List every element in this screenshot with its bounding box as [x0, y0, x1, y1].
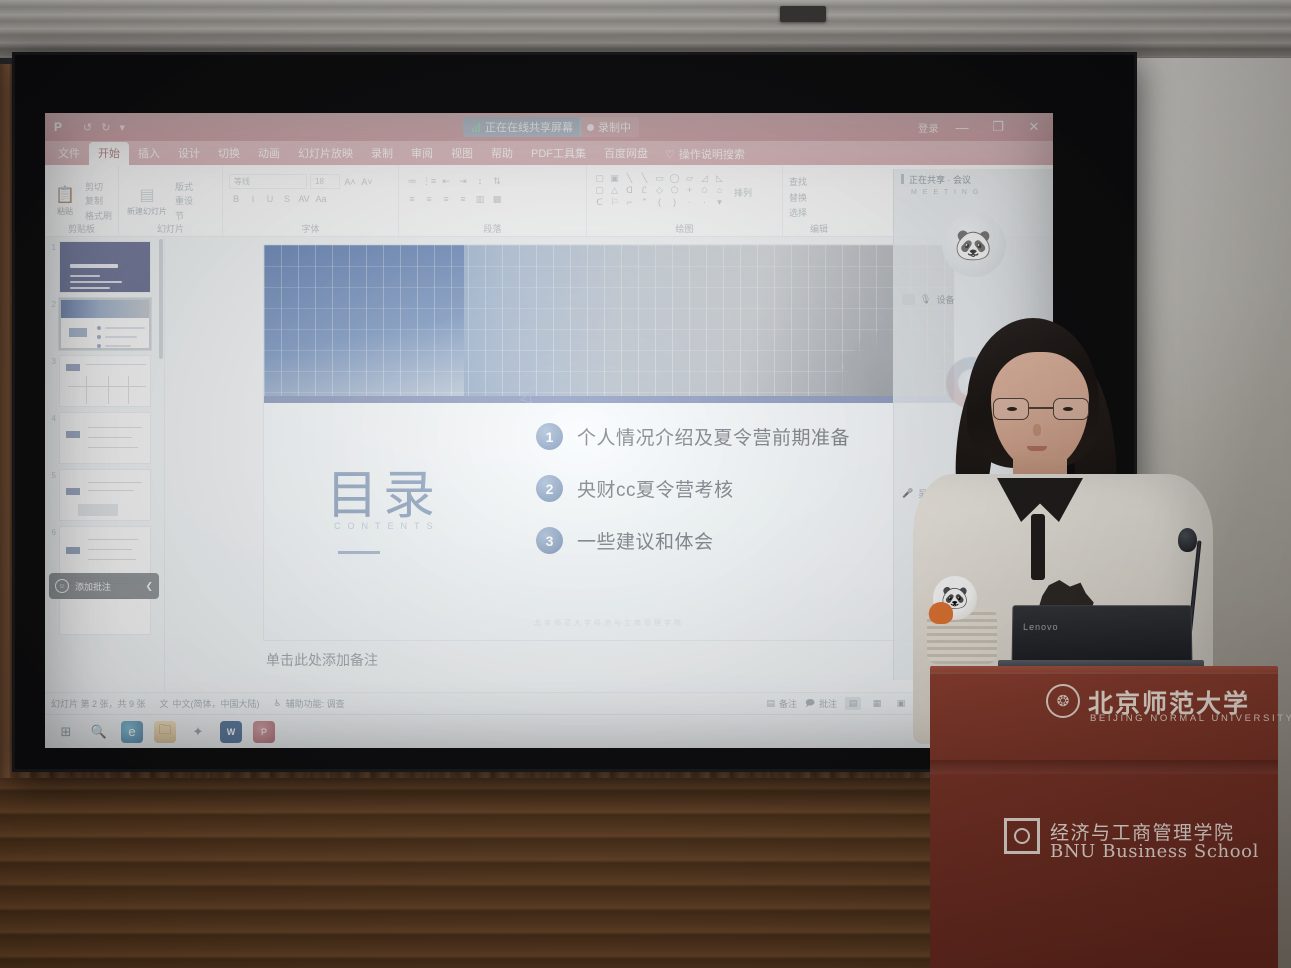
thumbnail-row-4[interactable]: 4: [45, 412, 162, 464]
ribbon-group-slides: ▤ 新建幻灯片 版式 重设 节 幻灯片: [119, 165, 223, 236]
ribbon-group-font: 等线 18 A˄ A˅ B I U S AV: [223, 165, 399, 236]
shape-banner-icon[interactable]: ⌂: [713, 185, 726, 196]
shape-square-icon[interactable]: ▭: [653, 173, 666, 184]
layout-button[interactable]: 版式: [175, 181, 193, 195]
thumbnail-number: 3: [47, 355, 56, 407]
group-label-font: 字体: [223, 222, 398, 235]
thumb-1-sub: [70, 275, 100, 277]
panda-patch-icon: 🐼: [933, 576, 977, 620]
bold-button[interactable]: B: [229, 192, 243, 206]
font-size-box[interactable]: 18: [310, 174, 340, 189]
select-button[interactable]: 选择: [789, 207, 807, 221]
new-slide-icon: ▤: [139, 188, 154, 204]
shape-chevron-icon[interactable]: ⌃: [638, 197, 651, 208]
panel-accent-bar: [901, 174, 904, 184]
font-style-row: B I U S AV Aa: [229, 192, 328, 206]
notes-placeholder[interactable]: 单击此处添加备注: [264, 650, 954, 670]
participant-avatar-tile[interactable]: 🐼: [904, 202, 1043, 288]
status-bar: 幻灯片 第 2 张，共 9 张 文 中文(简体，中国大陆) ♿ 辅助功能: 调查…: [45, 692, 1053, 714]
shape-flow-icon[interactable]: ⚐: [608, 197, 621, 208]
photo-bottom-bar: [264, 396, 954, 403]
thumb-4-line-2: [88, 437, 132, 438]
toc-text-2: 央财cc夏令营考核: [577, 475, 734, 502]
slide-thumbnail-1[interactable]: [59, 241, 151, 293]
group-label-slides: 幻灯片: [119, 222, 222, 235]
group-label-paragraph: 段落: [399, 222, 586, 235]
tab-pdf-tools[interactable]: PDF工具集: [522, 142, 595, 165]
thumb-5-image: [78, 504, 118, 516]
paragraph-row-2: ≡ ≡ ≡ ≡ ▥ ▩: [405, 192, 504, 206]
toc-number-2: 2: [536, 475, 563, 502]
shape-plus-icon[interactable]: +: [683, 185, 696, 196]
nose: [1033, 424, 1041, 436]
shape-more-icon[interactable]: ▾: [713, 197, 726, 208]
shape-more-2-icon[interactable]: ◿: [698, 173, 711, 184]
ribbon-group-clipboard: 📋 粘贴 剪切 复制 格式刷 剪贴板: [45, 165, 119, 236]
school-name-en: BNU Business School: [1050, 841, 1259, 862]
smartart-button[interactable]: ▩: [490, 192, 504, 206]
ceiling-sensor-box: [780, 6, 826, 22]
add-comment-chip[interactable]: ☺ 添加批注 ❮: [49, 573, 159, 599]
toc-item-2[interactable]: 2 央财cc夏令营考核: [536, 475, 936, 502]
add-comment-label: 添加批注: [75, 580, 111, 593]
group-label-editing: 编辑: [783, 222, 855, 235]
line-spacing-button[interactable]: ↕: [473, 174, 487, 188]
thumb-1-sub3: [70, 287, 110, 289]
zip-placket: [1031, 514, 1045, 580]
slide-count-label[interactable]: 幻灯片 第 2 张，共 9 张: [51, 697, 146, 710]
toc-item-3[interactable]: 3 一些建议和体会: [536, 527, 936, 554]
thumb-5-line-2: [88, 490, 134, 491]
thumbnail-number: 1: [47, 241, 56, 293]
language-icon: 文: [160, 697, 169, 710]
redo-icon[interactable]: ↻: [101, 121, 110, 134]
slide-thumbnail-2[interactable]: [59, 298, 151, 350]
toc-item-1[interactable]: 1 个人情况介绍及夏令营前期准备: [536, 423, 936, 450]
shape-brace-right-icon[interactable]: ): [668, 197, 681, 208]
increase-indent-button[interactable]: ⇥: [456, 174, 470, 188]
powerpoint-button[interactable]: P: [253, 721, 275, 743]
decrease-font-size-button[interactable]: A˅: [360, 175, 374, 189]
group-label-drawing: 绘图: [587, 222, 782, 235]
reset-button[interactable]: 重设: [175, 195, 193, 209]
tell-me-search[interactable]: ♡ 操作说明搜索: [657, 143, 753, 165]
new-slide-label: 新建幻灯片: [127, 206, 167, 217]
close-button[interactable]: ✕: [1021, 119, 1047, 135]
windows-taskbar: ⊞ 🔍 e 🗀 ✦ W P ☁ 12°C 阴 ⌃ ▣ 🕪 中: [45, 714, 1053, 748]
current-slide[interactable]: ◁° 目录 CONTENTS 1 个人情况介绍及夏令营前期准备: [264, 245, 954, 640]
laptop-brand-label: Lenovo: [1023, 622, 1059, 632]
font-name-box[interactable]: 等线: [229, 174, 307, 189]
shape-brace-left-icon[interactable]: (: [653, 197, 666, 208]
screen-share-badge[interactable]: 正在在线共享屏幕: [463, 117, 582, 137]
eye-left: [1007, 407, 1017, 411]
tell-me-label: 操作说明搜索: [679, 146, 745, 162]
glasses-bridge: [1029, 407, 1053, 409]
tab-file[interactable]: 文件: [49, 142, 89, 165]
minimize-button[interactable]: —: [949, 120, 975, 135]
slide-thumbnail-pane[interactable]: 1 2: [45, 237, 165, 692]
shape-star-icon[interactable]: ✩: [698, 185, 711, 196]
thumb-6-line-3: [88, 559, 136, 560]
shape-more-3-icon[interactable]: ◺: [713, 173, 726, 184]
shape-rounded-icon[interactable]: ▢: [593, 185, 606, 196]
thumb-2-bullet-1: [97, 326, 101, 330]
account-label[interactable]: 登录: [918, 120, 939, 135]
tab-view[interactable]: 视图: [442, 142, 482, 165]
thumbnail-number: 2: [47, 298, 56, 350]
lightbulb-icon: ♡: [665, 148, 675, 161]
tab-transitions[interactable]: 切换: [209, 142, 249, 165]
toc-text-1: 个人情况介绍及夏令营前期准备: [577, 423, 850, 450]
powerpoint-logo-icon: P: [45, 113, 71, 141]
slide-thumbnail-3[interactable]: [59, 355, 151, 407]
undo-icon[interactable]: ↺: [83, 121, 92, 134]
thumb-2-text-3: [105, 345, 131, 347]
paragraph-row-1: ≔ ⋮≡ ⇤ ⇥ ↕ ⇅: [405, 174, 504, 188]
tab-design[interactable]: 设计: [169, 142, 209, 165]
comments-label: 批注: [819, 697, 837, 710]
cut-button[interactable]: 剪切: [85, 181, 112, 195]
numbering-button[interactable]: ⋮≡: [422, 174, 436, 188]
slide-toc-list: 1 个人情况介绍及夏令营前期准备 2 央财cc夏令营考核 3: [536, 423, 936, 579]
thumb-3-col-1: [86, 376, 87, 404]
thumb-1-sub2: [70, 281, 122, 283]
thumb-2-text-2: [105, 336, 137, 338]
bnu-business-school-icon: [1004, 818, 1040, 854]
mouth: [1027, 446, 1047, 451]
italic-button[interactable]: I: [246, 192, 260, 206]
tab-record[interactable]: 录制: [362, 142, 402, 165]
thumb-3-tag: [66, 364, 80, 371]
ceiling-strip: [0, 0, 1291, 58]
shape-arrow-icon[interactable]: ╲: [638, 173, 651, 184]
quick-access-toolbar[interactable]: ↺ ↻ ▾: [71, 121, 125, 134]
paste-label: 粘贴: [57, 206, 73, 217]
eye-right: [1063, 407, 1073, 411]
thumbnail-row-1[interactable]: 1: [45, 241, 162, 293]
shape-corner-icon[interactable]: ⌐: [623, 197, 636, 208]
replace-button[interactable]: 替换: [789, 192, 807, 206]
notes-toggle[interactable]: ▤ 备注: [766, 697, 797, 710]
paste-icon: 📋: [55, 188, 75, 204]
paste-button[interactable]: 📋 粘贴: [51, 188, 79, 217]
toc-number-3: 3: [536, 527, 563, 554]
thumbnail-scrollbar[interactable]: [159, 239, 163, 359]
align-left-button[interactable]: ≡: [405, 192, 419, 206]
tab-slideshow[interactable]: 幻灯片放映: [289, 142, 362, 165]
bnu-seal-icon: ❂: [1046, 684, 1080, 718]
slide-sorter-button[interactable]: ▦: [869, 697, 885, 710]
lecture-hall-scene: P ↺ ↻ ▾ 正在在线共享屏幕 录制中: [0, 0, 1291, 968]
heading-underline: [338, 551, 380, 554]
powerpoint-window: P ↺ ↻ ▾ 正在在线共享屏幕 录制中: [45, 113, 1053, 714]
slide-footer: 北京师范大学经济与工商管理学院: [264, 618, 954, 628]
slide-thumbnail-5[interactable]: [59, 469, 151, 521]
panda-avatar-icon: 🐼: [942, 213, 1006, 277]
new-slide-button[interactable]: ▤ 新建幻灯片: [125, 188, 169, 217]
shape-arc-icon[interactable]: ᑕ: [593, 197, 606, 208]
thumb-5-tag: [66, 488, 80, 495]
columns-button[interactable]: ▥: [473, 192, 487, 206]
thumb-3-row: [68, 386, 146, 387]
podium-band: [930, 760, 1278, 774]
thumb-4-tag: [66, 431, 80, 438]
underline-button[interactable]: U: [263, 192, 277, 206]
record-dot-icon: [587, 124, 594, 131]
notes-label: 备注: [779, 697, 797, 710]
tab-insert[interactable]: 插入: [129, 142, 169, 165]
thumb-3-col-3: [128, 376, 129, 404]
restore-button[interactable]: ❐: [985, 119, 1011, 135]
justify-button[interactable]: ≡: [456, 192, 470, 206]
shape-oval-icon[interactable]: ◯: [668, 173, 681, 184]
video-icon[interactable]: [902, 294, 915, 305]
shape-textbox-icon[interactable]: ▣: [608, 173, 621, 184]
shape-diamond-icon[interactable]: ◇: [653, 185, 666, 196]
thumbnail-row-5[interactable]: 5: [45, 469, 162, 521]
change-case-button[interactable]: Aa: [314, 192, 328, 206]
university-name-en: BEIJING NORMAL UNIVERSITY: [1090, 713, 1291, 724]
tab-review[interactable]: 审阅: [402, 142, 442, 165]
slide-header-photo[interactable]: [264, 245, 954, 403]
shape-curve-icon[interactable]: ᗡ: [623, 185, 636, 196]
microphone-head-icon: [1178, 528, 1197, 552]
thumb-6-tag: [66, 547, 80, 554]
normal-view-button[interactable]: ▤: [845, 697, 861, 710]
slide-thumbnail-6[interactable]: [59, 526, 151, 578]
shape-scroll-icon[interactable]: ·: [698, 197, 711, 208]
shape-freeform-icon[interactable]: Ꮭ: [638, 185, 651, 196]
thumb-4-line-1: [88, 427, 142, 428]
toc-text-3: 一些建议和体会: [577, 527, 714, 554]
decrease-indent-button[interactable]: ⇤: [439, 174, 453, 188]
chevron-left-icon[interactable]: ❮: [145, 581, 153, 592]
ceiling-lines: [0, 0, 1291, 58]
thumbnail-row-3[interactable]: 3: [45, 355, 162, 407]
search-button[interactable]: 🔍: [88, 721, 110, 743]
tab-home[interactable]: 开始: [89, 142, 129, 165]
meeting-device-row[interactable]: 🎙 设备: [894, 290, 1053, 309]
accessibility-status[interactable]: ♿ 辅助功能: 调查: [274, 697, 345, 710]
thumb-5-line-1: [88, 482, 142, 483]
thumb-2-text-1: [105, 327, 145, 329]
glasses-icon: [993, 398, 1089, 420]
thumb-4-line-3: [88, 447, 138, 448]
thumbnail-number: 4: [47, 412, 56, 464]
laptop-screen: Lenovo: [1012, 605, 1193, 663]
shape-more-1-icon[interactable]: ▱: [683, 173, 696, 184]
thumb-2-heading: [69, 328, 87, 337]
accessibility-label: 辅助功能: 调查: [286, 697, 345, 710]
projection-screen: P ↺ ↻ ▾ 正在在线共享屏幕 录制中: [45, 113, 1053, 748]
tab-help[interactable]: 帮助: [482, 142, 522, 165]
pointer-icon: ◁°: [518, 387, 538, 407]
language-label: 中文(简体，中国大陆): [173, 697, 260, 710]
thumbnail-row-2[interactable]: 2: [45, 298, 162, 350]
meeting-panel-header: 正在共享 · 会议: [894, 169, 1053, 189]
shape-pentagon-icon[interactable]: ⬠: [668, 185, 681, 196]
meeting-app-button[interactable]: ✦: [187, 721, 209, 743]
arrange-button[interactable]: 排列: [734, 187, 752, 201]
meeting-device-label: 设备: [936, 293, 954, 306]
strikethrough-button[interactable]: S: [280, 192, 294, 206]
taskbar-icons: ⊞ 🔍 e 🗀 ✦ W P: [45, 721, 275, 743]
thumb-3-rule: [86, 364, 146, 365]
slide-heading-en: CONTENTS: [334, 521, 440, 531]
shape-dot-icon[interactable]: ·: [683, 197, 696, 208]
shape-rect-icon[interactable]: ▢: [593, 173, 606, 184]
align-right-button[interactable]: ≡: [439, 192, 453, 206]
thumb-6-line-2: [88, 549, 132, 550]
toc-number-1: 1: [536, 423, 563, 450]
copy-button[interactable]: 复制: [85, 195, 112, 209]
wps-button[interactable]: W: [220, 721, 242, 743]
recording-label: 录制中: [598, 119, 631, 135]
comment-icon: 🗩: [805, 696, 815, 712]
recording-badge[interactable]: 录制中: [579, 117, 639, 137]
thumbnail-row-6[interactable]: 6: [45, 526, 162, 578]
find-button[interactable]: 查找: [789, 176, 807, 190]
screen-share-label: 正在在线共享屏幕: [485, 119, 573, 135]
powerpoint-titlebar: P ↺ ↻ ▾ 正在在线共享屏幕 录制中: [45, 113, 1053, 141]
text-direction-button[interactable]: ⇅: [490, 174, 504, 188]
meeting-subtitle: M E E T I N G: [894, 189, 1053, 200]
shapes-gallery[interactable]: ▢ ▣ ╲ ╲ ▭ ◯ ▱ ◿ ◺ ▢: [593, 173, 726, 208]
font-name-row: 等线 18 A˄ A˅: [229, 174, 374, 189]
file-explorer-button[interactable]: 🗀: [154, 721, 176, 743]
accessibility-icon: ♿: [274, 698, 282, 709]
language-status[interactable]: 文 中文(简体，中国大陆): [160, 697, 260, 710]
titlebar-right-controls: 登录 — ❐ ✕: [918, 113, 1047, 141]
character-spacing-button[interactable]: AV: [297, 192, 311, 206]
comments-toggle[interactable]: 🗩 批注: [805, 696, 837, 712]
group-label-clipboard: 剪贴板: [45, 222, 118, 235]
ribbon-group-editing: 查找 替换 选择 编辑: [783, 165, 855, 236]
thumb-2-photo: [61, 300, 149, 318]
thumb-2-bullet-2: [97, 335, 101, 339]
thumb-3-col-2: [108, 376, 109, 404]
comment-icon: ☺: [55, 579, 69, 593]
tab-baidu-netdisk[interactable]: 百度网盘: [595, 142, 657, 165]
projected-desktop: P ↺ ↻ ▾ 正在在线共享屏幕 录制中: [45, 113, 1053, 748]
qat-chevron-down-icon[interactable]: ▾: [119, 121, 125, 134]
slide-thumbnail-4[interactable]: [59, 412, 151, 464]
microphone-icon[interactable]: 🎙: [920, 294, 931, 305]
thumb-2-bullet-3: [97, 344, 101, 348]
bullets-button[interactable]: ≔: [405, 174, 419, 188]
ribbon-group-drawing: ▢ ▣ ╲ ╲ ▭ ◯ ▱ ◿ ◺ ▢: [587, 165, 783, 236]
thumb-1-title: [70, 264, 118, 268]
tab-animations[interactable]: 动画: [249, 142, 289, 165]
increase-font-size-button[interactable]: A˄: [343, 175, 357, 189]
ribbon-group-paragraph: ≔ ⋮≡ ⇤ ⇥ ↕ ⇅ ≡ ≡ ≡: [399, 165, 587, 236]
thumb-6-line-1: [88, 539, 138, 540]
align-center-button[interactable]: ≡: [422, 192, 436, 206]
ribbon-tabs: 文件 开始 插入 设计 切换 动画 幻灯片放映 录制 审阅 视图 帮助 PDF工…: [45, 141, 1053, 165]
edge-button[interactable]: e: [121, 721, 143, 743]
shape-line-icon[interactable]: ╲: [623, 173, 636, 184]
shape-triangle-icon[interactable]: △: [608, 185, 621, 196]
meeting-title: 正在共享 · 会议: [909, 173, 971, 186]
thumbnail-number: 6: [47, 526, 56, 578]
signal-icon: [472, 123, 480, 132]
thumbnail-number: 5: [47, 469, 56, 521]
notes-icon: ▤: [766, 698, 775, 709]
start-button[interactable]: ⊞: [55, 721, 77, 743]
slide-heading-cn: 目录: [326, 453, 440, 528]
